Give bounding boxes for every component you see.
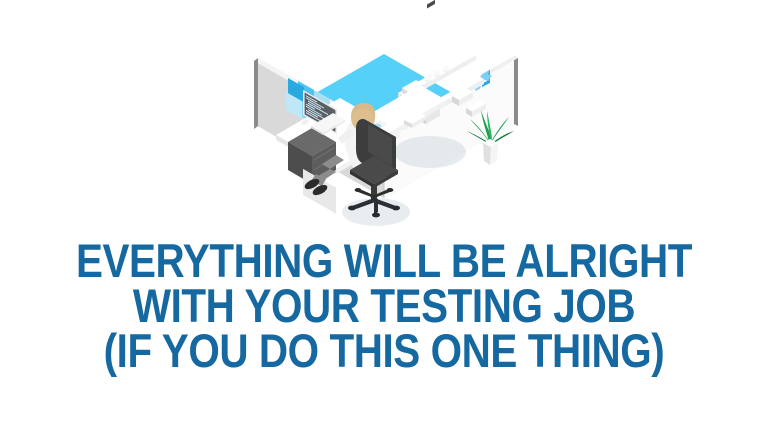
binary-line-1: 01000101 [400, 21, 454, 65]
headline-line-3: (IF YOU DO THIS ONE THING) [54, 328, 714, 373]
puzzle-piece-a [298, 52, 318, 81]
puzzle-piece-b [314, 61, 330, 88]
office-scene-svg: 01000101 01011100 11011100 [0, 0, 768, 240]
headline-line-1: EVERYTHING WILL BE ALRIGHT [54, 238, 714, 283]
poster-canvas: 01000101 01011100 11011100 [0, 0, 768, 432]
headline-block: EVERYTHING WILL BE ALRIGHT WITH YOUR TES… [0, 238, 768, 373]
isometric-office-illustration: 01000101 01011100 11011100 [0, 0, 768, 240]
headline-line-2: WITH YOUR TESTING JOB [54, 283, 714, 328]
